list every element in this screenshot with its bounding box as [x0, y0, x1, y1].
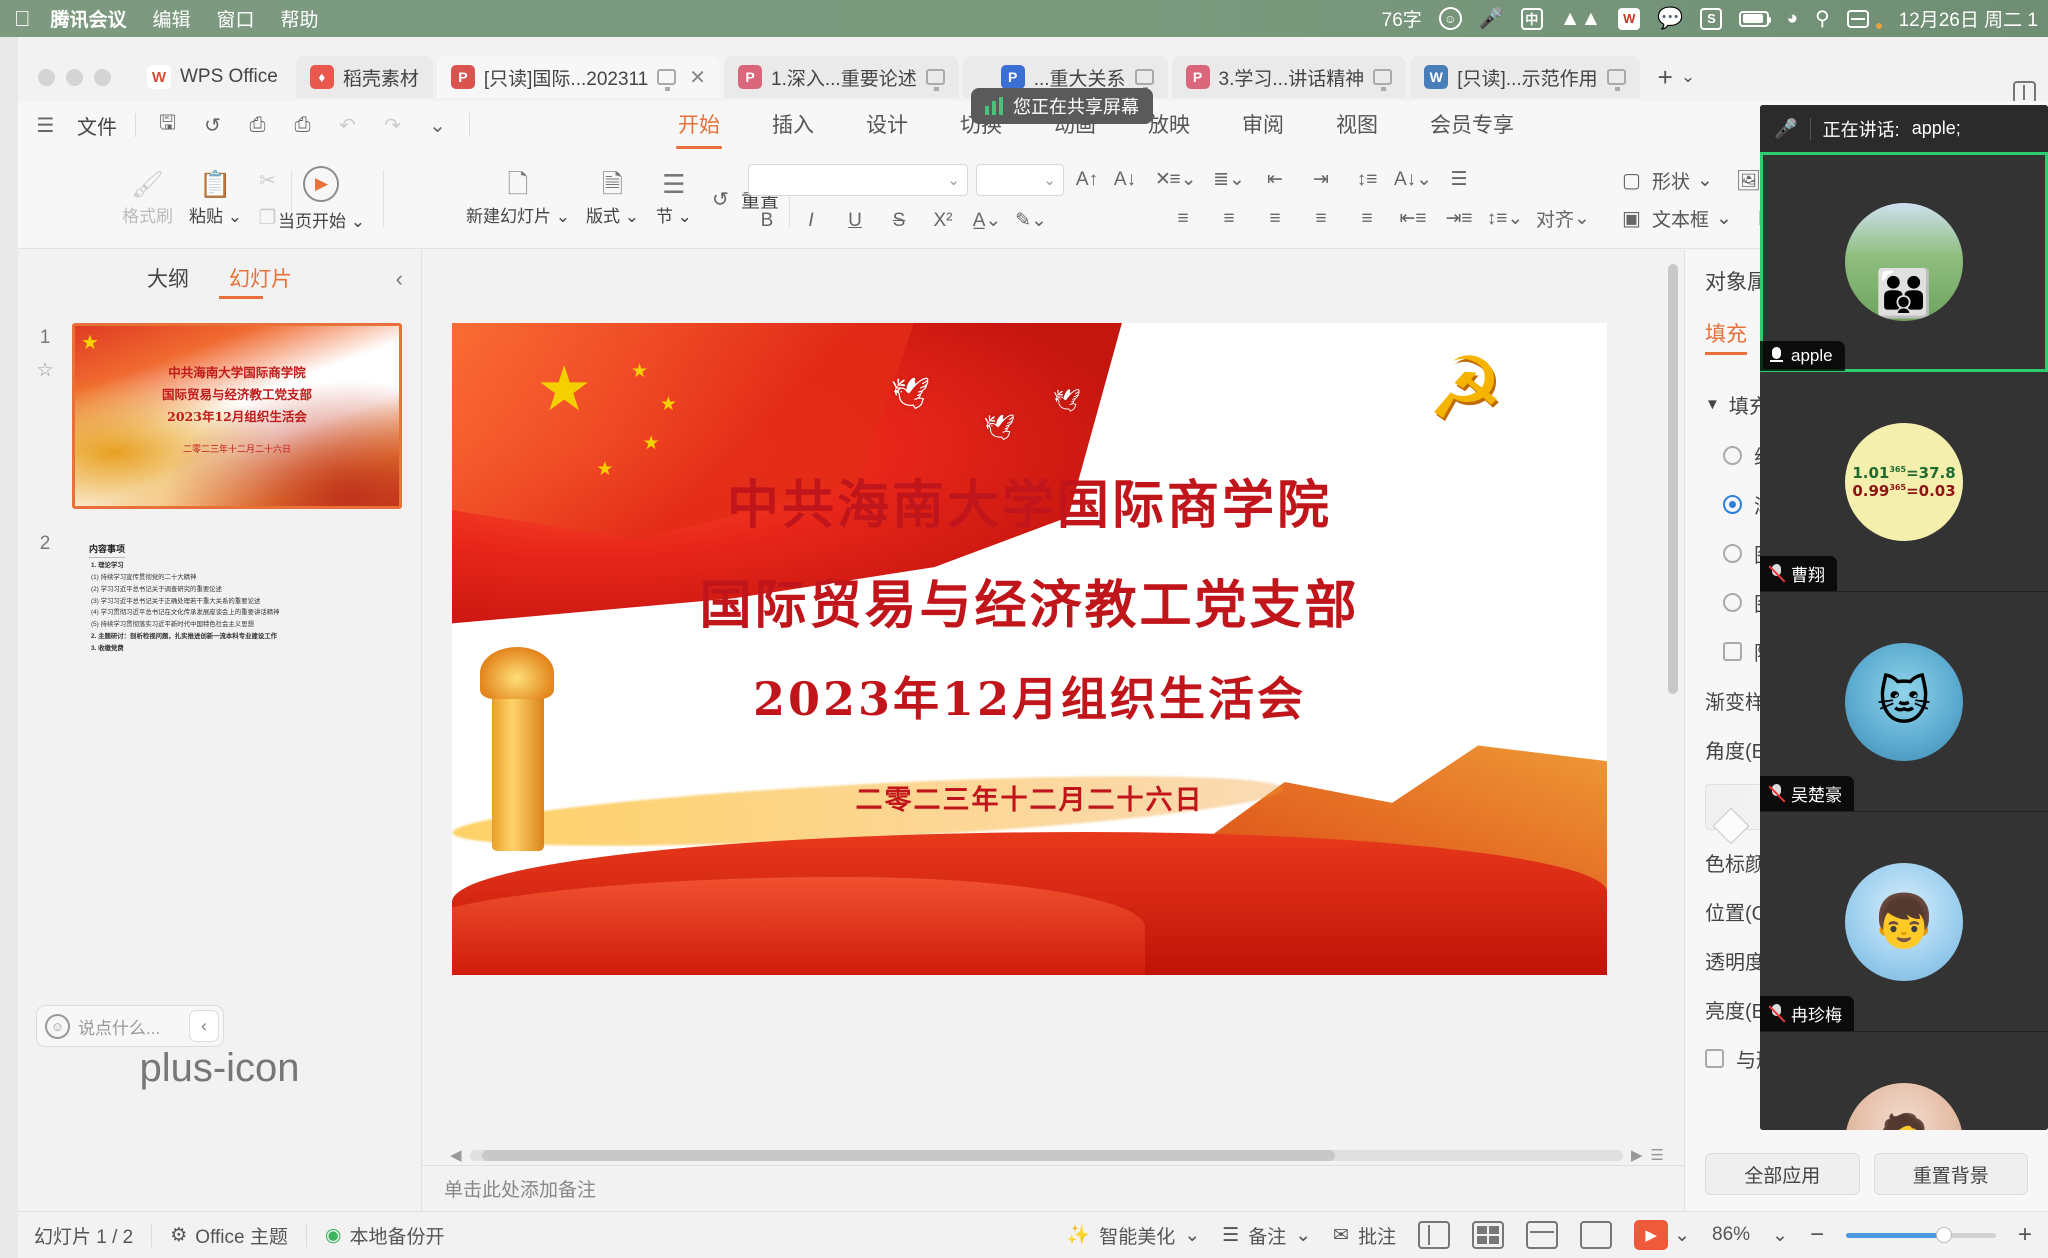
tab-label: [只读]...示范作用 — [1457, 64, 1597, 91]
control-center-icon[interactable] — [1847, 10, 1869, 28]
theme-label[interactable]: Office 主题 — [195, 1222, 288, 1249]
wifi-icon[interactable]: ◕ — [1786, 8, 1797, 30]
thumb2-title: 内容事项 — [89, 542, 125, 558]
party-emblem-icon: ☭ — [1427, 346, 1547, 442]
window-controls[interactable] — [38, 69, 111, 86]
avatar: 👪 — [1845, 203, 1963, 321]
apple-icon[interactable]:  — [14, 8, 31, 30]
btn-label: 节 ⌄ — [656, 202, 692, 227]
screen:  腾讯会议 编辑 窗口 帮助 76字 ☺ 🎤 中 ▲▲ W 💬 S ◕ ⚲ 1… — [0, 0, 2048, 1258]
layout-button[interactable]: 🗎 版式 ⌄ — [578, 171, 647, 227]
scroll-right-icon[interactable]: ▶ — [1631, 1146, 1643, 1164]
thumb2-item: (5) 持续学习贯彻落实习近平新时代中国特色社会主义思想 — [91, 619, 389, 631]
indent-dec-icon[interactable]: ⇤≡ — [1398, 205, 1428, 233]
slide-title-1[interactable]: 中共海南大学国际商学院 — [452, 463, 1607, 538]
text-direction-icon[interactable]: A↓⌄ — [1398, 166, 1428, 194]
avatar: 🤵 — [1845, 1083, 1963, 1131]
slide-canvas[interactable]: ★ ★ ★ ★ ★ ☭ 🕊 🕊 🕊 中共海南大学国际商学院 国际贸易与经济 — [452, 323, 1607, 975]
font-color-icon[interactable]: A̲⌄ — [972, 207, 1002, 235]
horizontal-scrollbar[interactable]: ◀ ▶ ☰ — [450, 1145, 1664, 1165]
speaking-name: apple; — [1912, 118, 1961, 139]
slide-thumb-row[interactable]: 1 ☆ ★ 中共海南大学国际商学院 国际贸易与经济教工党支部 2023年12月组… — [18, 323, 421, 509]
font-family-select[interactable]: ⌄ — [748, 164, 968, 196]
chevron-left-icon[interactable]: ‹ — [396, 266, 403, 292]
participant-tile[interactable]: 👦 冉珍梅 — [1760, 812, 2048, 1032]
chevron-down-icon: ⌄ — [1295, 1224, 1311, 1247]
ime-char-count: 76字 — [1382, 5, 1422, 32]
btn-label: 版式 ⌄ — [586, 202, 639, 227]
star-icon: ★ — [643, 434, 660, 453]
avatar: 🐱 — [1845, 643, 1963, 761]
participant-tile[interactable]: 👪 apple — [1760, 152, 2048, 372]
menubar-status-items: 76字 ☺ 🎤 中 ▲▲ W 💬 S ◕ ⚲ 12月26日 周二 1 — [1382, 0, 2038, 37]
signal-bars-icon — [985, 97, 1003, 115]
smart-beautify-button[interactable]: ✨ 智能美化⌄ — [1067, 1222, 1201, 1249]
share-tooltip-label: 您正在共享屏幕 — [1013, 93, 1139, 119]
battery-icon[interactable] — [1739, 11, 1769, 27]
ime-mode-icon[interactable]: 中 — [1521, 8, 1543, 30]
slides-panel-tabs: 大纲 幻灯片 ‹ — [18, 250, 421, 305]
distribute-icon[interactable]: ≡ — [1352, 205, 1382, 233]
chevron-down-icon: ⌄ — [1184, 1224, 1200, 1247]
cast-icon[interactable] — [1607, 69, 1626, 85]
checkbox-icon — [1723, 642, 1742, 661]
tab-start[interactable]: 开始 — [678, 109, 720, 141]
zoom-level-label[interactable]: 86% — [1712, 1224, 1750, 1246]
shrink-font-icon[interactable]: A↓ — [1110, 166, 1140, 194]
chevron-down-icon[interactable]: ⌄ — [1681, 67, 1695, 87]
slide-thumb-row[interactable]: 2 内容事项 1. 理论学习 (1) 持续学习宣传贯彻党的二十大精神 (2) 学… — [18, 529, 421, 715]
numbering-icon[interactable]: ≣⌄ — [1214, 166, 1244, 194]
thumb2-item: 1. 理论学习 — [91, 560, 389, 572]
align-left-icon[interactable]: ≡ — [1168, 205, 1198, 233]
participant-name: 吴楚豪 — [1791, 781, 1842, 806]
ribbon: 🖌 格式刷 📋 粘贴 ⌄ ✂ ❐ ▶ 当页开始 ⌄ — [18, 149, 2048, 249]
star-decoration-icon: ★ — [81, 330, 99, 355]
textbox-icon: ▣ — [1618, 205, 1645, 232]
radio-icon — [1723, 495, 1742, 514]
ppt-icon: P — [738, 65, 762, 89]
slide-thumbnail-2[interactable]: 内容事项 1. 理论学习 (1) 持续学习宣传贯彻党的二十大精神 (2) 学习习… — [72, 529, 402, 715]
play-slideshow-button[interactable]: ▶ ⌄ — [1634, 1220, 1690, 1250]
avatar-formula-line-1: 1.01365=37.8 — [1852, 464, 1955, 482]
participant-name: 曹翔 — [1791, 561, 1825, 586]
tab-doc-2[interactable]: P 1.深入...重要论述 — [724, 56, 959, 98]
participant-tile[interactable]: 🐱 吴楚豪 — [1760, 592, 2048, 812]
dove-icon: 🕊 — [983, 414, 1015, 443]
cast-icon[interactable] — [1373, 69, 1392, 85]
chevron-right-icon[interactable]: ‹ — [189, 1010, 219, 1042]
paragraph-group: ≡⌄ ≣⌄ ⇤ ⇥ ↕≡ A↓⌄ ☰ ≡ ≡ ≡ ≡ ≡ ⇤≡ ⇥≡ ↕≡⌄ — [1168, 149, 1590, 249]
dove-icon: 🕊 — [1053, 388, 1081, 414]
comment-button[interactable]: ✉ 批注 — [1333, 1222, 1396, 1249]
menu-item-edit[interactable]: 编辑 — [153, 5, 191, 32]
participant-tile[interactable]: 1.01365=37.8 0.99365=0.03 曹翔 — [1760, 372, 2048, 592]
reset-background-button[interactable]: 重置背景 — [1874, 1153, 2029, 1195]
tab-insert[interactable]: 插入 — [772, 109, 814, 141]
screen-share-tooltip: 您正在共享屏幕 — [971, 88, 1153, 124]
thumb2-item: 3. 收缴党费 — [91, 643, 389, 655]
scroll-menu-icon[interactable]: ☰ — [1651, 1146, 1664, 1164]
shape-button[interactable]: ▢形状⌄ — [1618, 167, 1713, 194]
grow-font-icon[interactable]: A↑ — [1072, 166, 1102, 194]
hamburger-icon[interactable]: ☰ — [32, 112, 59, 139]
slide-editor: ★ ★ ★ ★ ★ ☭ 🕊 🕊 🕊 中共海南大学国际商学院 国际贸易与经济 — [422, 250, 1684, 1211]
properties-actions: 全部应用 重置背景 — [1705, 1153, 2028, 1195]
thumb2-item: (3) 学习习近平总书记关于正确处理若干重大关系的重要论述 — [91, 596, 389, 608]
theme-icon: ⚙ — [170, 1224, 187, 1247]
cast-icon[interactable] — [926, 69, 945, 85]
avatar-formula-line-2: 0.99365=0.03 — [1852, 482, 1955, 500]
add-slide-button[interactable]: plus-icon — [18, 1046, 421, 1091]
chevron-down-icon[interactable]: ⌄ — [424, 112, 451, 139]
close-icon[interactable]: ✕ — [689, 65, 706, 90]
participant-name: apple — [1791, 346, 1833, 366]
backup-icon: ◉ — [325, 1224, 342, 1247]
star-icon: ★ — [536, 359, 592, 421]
clipboard-icon: 📋 — [199, 171, 231, 197]
play-icon: ▶ — [303, 166, 339, 202]
play-icon: ▶ — [1634, 1220, 1668, 1250]
divider — [151, 1223, 152, 1247]
new-slide-icon: 🗋 — [508, 171, 529, 197]
wechat-icon[interactable]: 💬 — [1657, 7, 1683, 31]
slide-count-label: 幻灯片 1 / 2 — [34, 1222, 133, 1249]
notes-area[interactable]: 单击此处添加备注 — [422, 1165, 1684, 1211]
daoke-icon: ♦ — [310, 65, 334, 89]
cast-icon[interactable] — [657, 69, 676, 85]
thumb-line-1: 中共海南大学国际商学院 — [75, 362, 399, 381]
backup-label[interactable]: 本地备份开 — [349, 1222, 444, 1249]
slide-number: 2 — [18, 529, 72, 715]
slide-number: 1 ☆ — [18, 323, 72, 509]
spacing-icon[interactable]: ↕≡⌄ — [1490, 205, 1520, 233]
cast-icon[interactable] — [1135, 69, 1154, 85]
menubar-clock[interactable]: 12月26日 周二 1 — [1899, 5, 2038, 32]
comment-icon: ✉ — [1333, 1224, 1349, 1247]
wps-window: W WPS Office ♦ 稻壳素材 P [只读]国际...202311 ✕ … — [18, 37, 2048, 1258]
slide-date[interactable]: 二零二三年十二月二十六日 — [452, 778, 1607, 817]
chevron-down-icon[interactable]: ⌄ — [1772, 1224, 1788, 1247]
scroll-left-icon[interactable]: ◀ — [450, 1146, 462, 1164]
radio-icon — [1723, 593, 1742, 612]
layout-icon: 🗎 — [602, 171, 623, 197]
underline-button[interactable]: U — [840, 207, 870, 235]
participant-nametag: 吴楚豪 — [1760, 776, 1854, 811]
textbox-button[interactable]: ▣文本框⌄ — [1618, 205, 1732, 232]
divider — [135, 113, 136, 137]
tab-outline[interactable]: 大纲 — [147, 263, 189, 293]
tab-slideshow[interactable]: 放映 — [1148, 109, 1190, 141]
slide-title-3[interactable]: 2023年12月组织生活会 — [452, 663, 1607, 729]
align-center-icon[interactable]: ≡ — [1214, 205, 1244, 233]
section-icon: ☰ — [662, 171, 685, 197]
checkbox-icon — [1705, 1049, 1724, 1068]
microphone-icon[interactable]: 🎤 — [1479, 6, 1504, 31]
gradient-stop-handle[interactable] — [1713, 808, 1750, 845]
comment-placeholder: 说点什么... — [78, 1014, 160, 1039]
picture-icon: 🖼 — [1735, 167, 1762, 194]
justify-icon[interactable]: ≡ — [1306, 205, 1336, 233]
paste-button[interactable]: 📋 粘贴 ⌄ — [181, 171, 250, 227]
participant-nametag: 冉珍梅 — [1760, 996, 1854, 1031]
align-objects-button[interactable]: 对齐⌄ — [1536, 205, 1590, 233]
divider — [383, 170, 384, 228]
ppt-icon: P — [1001, 65, 1025, 89]
recording-dot-icon — [1876, 23, 1882, 29]
superscript-button[interactable]: X² — [928, 207, 958, 235]
print-icon[interactable]: ⎙ — [244, 112, 271, 139]
undo-icon[interactable]: ↶ — [334, 112, 361, 139]
view-sorter-icon[interactable] — [1472, 1221, 1504, 1249]
participant-nametag: apple — [1760, 341, 1845, 371]
cloud-sync-icon[interactable]: ↺ — [199, 112, 226, 139]
tab-label: 3.学习...讲话精神 — [1219, 64, 1365, 91]
menu-item-app[interactable]: 腾讯会议 — [51, 5, 127, 32]
font-size-select[interactable]: ⌄ — [976, 164, 1064, 196]
microphone-off-icon — [1769, 564, 1784, 583]
star-icon: ★ — [660, 395, 677, 414]
microphone-icon[interactable]: 🎤 — [1774, 117, 1798, 141]
meeting-header: 🎤 正在讲话: apple; — [1760, 105, 2048, 152]
decrease-indent-icon[interactable]: ⇤ — [1260, 166, 1290, 194]
divider — [306, 1223, 307, 1247]
thumb2-item: (1) 持续学习宣传贯彻党的二十大精神 — [91, 572, 389, 584]
strikethrough-button[interactable]: S — [884, 207, 914, 235]
notes-icon: ☰ — [1222, 1224, 1239, 1247]
font-group: ⌄ ⌄ A↑ A↓ ✕ B I U S X² A̲⌄ ✎⌄ — [748, 149, 1178, 249]
notes-button[interactable]: ☰ 备注⌄ — [1222, 1222, 1311, 1249]
thumb-line-3: 2023年12月组织生活会 — [75, 406, 399, 425]
star-icon[interactable]: ☆ — [18, 359, 72, 382]
dove-icon: 🕊 — [891, 375, 930, 412]
save-icon[interactable]: 🖫 — [154, 112, 181, 139]
slide-thumbnail-1[interactable]: ★ 中共海南大学国际商学院 国际贸易与经济教工党支部 2023年12月组织生活会… — [72, 323, 402, 509]
slideshow-group: ▶ 当页开始 ⌄ — [270, 149, 394, 249]
highlight-icon[interactable]: ✎⌄ — [1016, 207, 1046, 235]
divider — [1810, 118, 1811, 140]
radio-icon — [1723, 446, 1742, 465]
tab-doc-4[interactable]: P 3.学习...讲话精神 — [1172, 56, 1407, 98]
menu-item-window[interactable]: 窗口 — [217, 5, 255, 32]
slides-panel: 大纲 幻灯片 ‹ 1 ☆ ★ 中共海南大学国际商学院 国际贸易与经济教工党支部 … — [18, 250, 422, 1211]
tab-active-presentation[interactable]: P [只读]国际...202311 ✕ — [437, 56, 720, 98]
menu-item-help[interactable]: 帮助 — [281, 5, 319, 32]
participant-tile[interactable]: 🤵 张瑾 — [1760, 1032, 2048, 1130]
chevron-down-icon: ▼ — [1705, 396, 1720, 413]
red-wave-graphic-2 — [452, 877, 1145, 975]
redo-icon[interactable]: ↷ — [379, 112, 406, 139]
slide-title-2[interactable]: 国际贸易与经济教工党支部 — [452, 563, 1607, 638]
tab-label: 1.深入...重要论述 — [771, 64, 917, 91]
view-normal-icon[interactable] — [1418, 1221, 1450, 1249]
magic-icon: ✨ — [1067, 1223, 1091, 1247]
tab-slides[interactable]: 幻灯片 — [229, 263, 292, 293]
tab-view[interactable]: 视图 — [1336, 109, 1378, 141]
tab-wps-office[interactable]: W WPS Office — [133, 56, 292, 98]
meeting-panel: 🎤 正在讲话: apple; 👪 apple 1.01365=37.8 0.99… — [1760, 105, 2048, 1130]
smiley-icon[interactable]: ☺ — [1439, 7, 1462, 30]
line-spacing-icon[interactable]: ↕≡ — [1352, 166, 1382, 194]
new-tab-button[interactable]: + ⌄ — [1658, 62, 1695, 93]
sogou-icon[interactable]: S — [1700, 8, 1722, 30]
tab-design[interactable]: 设计 — [866, 109, 908, 141]
chevron-down-icon: ⌄ — [1674, 1224, 1690, 1247]
status-bar-right: ✨ 智能美化⌄ ☰ 备注⌄ ✉ 批注 ▶ ⌄ — [1067, 1220, 2032, 1250]
microphone-off-icon — [1769, 784, 1784, 803]
thumb2-item: (2) 学习习近平总书记关于调查研究的重要论述 — [91, 584, 389, 596]
microphone-off-icon — [1769, 1004, 1784, 1023]
start-from-current-button[interactable]: ▶ 当页开始 ⌄ — [270, 166, 373, 232]
status-bar: 幻灯片 1 / 2 ⚙ Office 主题 ◉ 本地备份开 ✨ 智能美化⌄ ☰ … — [18, 1211, 2048, 1258]
divider — [469, 113, 470, 137]
zoom-out-button[interactable]: − — [1810, 1221, 1824, 1249]
btn-label: 格式刷 — [122, 202, 173, 227]
tab-review[interactable]: 审阅 — [1242, 109, 1284, 141]
italic-button[interactable]: I — [796, 207, 826, 235]
microphone-on-icon — [1769, 347, 1784, 366]
bold-button[interactable]: B — [752, 207, 782, 235]
tab-label: ...重大关系 — [1034, 64, 1126, 91]
format-painter-button[interactable]: 🖌 格式刷 — [114, 171, 181, 227]
wps-logo-icon: W — [147, 65, 171, 89]
macos-menubar:  腾讯会议 编辑 窗口 帮助 76字 ☺ 🎤 中 ▲▲ W 💬 S ◕ ⚲ 1… — [0, 0, 2048, 37]
file-menu-button[interactable]: 文件 — [77, 111, 117, 140]
btn-label: 新建幻灯片 ⌄ — [466, 202, 570, 227]
indent-inc-icon[interactable]: ⇥≡ — [1444, 205, 1474, 233]
ppt-icon: P — [451, 65, 475, 89]
participant-name: 冉珍梅 — [1791, 1001, 1842, 1026]
slide-background: ★ ★ ★ ★ ★ ☭ 🕊 🕊 🕊 — [452, 323, 1607, 975]
increase-indent-icon[interactable]: ⇥ — [1306, 166, 1336, 194]
bullets-icon[interactable]: ≡⌄ — [1168, 166, 1198, 194]
view-reading-icon[interactable] — [1526, 1221, 1558, 1249]
tab-label: 稻壳素材 — [343, 64, 419, 91]
apply-all-button[interactable]: 全部应用 — [1705, 1153, 1860, 1195]
view-present-icon[interactable] — [1580, 1221, 1612, 1249]
reset-icon: ↺ — [707, 186, 734, 213]
avatar: 1.01365=37.8 0.99365=0.03 — [1845, 423, 1963, 541]
radio-icon — [1723, 544, 1742, 563]
new-slide-button[interactable]: 🗋 新建幻灯片 ⌄ — [458, 171, 578, 227]
tab-doc-5[interactable]: W [只读]...示范作用 — [1410, 56, 1639, 98]
notes-placeholder: 单击此处添加备注 — [444, 1175, 596, 1202]
avatar: 👦 — [1845, 863, 1963, 981]
plus-icon: + — [1658, 62, 1673, 93]
thumb-line-2: 国际贸易与经济教工党支部 — [75, 384, 399, 403]
thumb2-item: (4) 学习贯彻习近平总书记在文化传承发展座谈会上的重要讲话精神 — [91, 607, 389, 619]
comment-input[interactable]: ☺ 说点什么... ‹ — [36, 1005, 224, 1047]
search-icon[interactable]: ⚲ — [1815, 6, 1830, 31]
shape-icon: ▢ — [1618, 167, 1645, 194]
fill-tab[interactable]: 填充 — [1705, 318, 1747, 348]
thumb2-item: 2. 主题研讨：剖析检视问题，扎实推进创新一流本科专业建设工作 — [91, 631, 389, 643]
zoom-slider[interactable] — [1846, 1233, 1996, 1238]
tab-daoke[interactable]: ♦ 稻壳素材 — [296, 56, 433, 98]
btn-label: 当页开始 ⌄ — [278, 207, 365, 232]
ppt-icon: P — [1186, 65, 1210, 89]
tab-label: WPS Office — [180, 66, 278, 88]
mountain-icon[interactable]: ▲▲ — [1560, 7, 1602, 31]
zoom-in-button[interactable]: + — [2018, 1221, 2032, 1249]
brush-icon: 🖌 — [131, 171, 164, 197]
thumb-line-4: 二零二三年十二月二十六日 — [75, 442, 399, 455]
star-icon: ★ — [631, 362, 648, 381]
speaking-label: 正在讲话: — [1823, 116, 1900, 142]
wps-icon[interactable]: W — [1618, 8, 1640, 30]
align-right-icon[interactable]: ≡ — [1260, 205, 1290, 233]
plus-icon: plus-icon — [139, 1046, 299, 1090]
smiley-icon[interactable]: ☺ — [45, 1014, 70, 1039]
vertical-scrollbar[interactable] — [1666, 250, 1680, 1145]
print-preview-icon[interactable]: ⎙ — [289, 112, 316, 139]
section-button[interactable]: ☰ 节 ⌄ — [647, 171, 701, 227]
tab-member[interactable]: 会员专享 — [1430, 109, 1514, 141]
word-icon: W — [1424, 65, 1448, 89]
btn-label: 粘贴 ⌄ — [189, 202, 242, 227]
tab-label: [只读]国际...202311 — [484, 64, 648, 91]
columns-icon[interactable]: ☰ — [1444, 166, 1474, 194]
participant-nametag: 曹翔 — [1760, 556, 1837, 591]
